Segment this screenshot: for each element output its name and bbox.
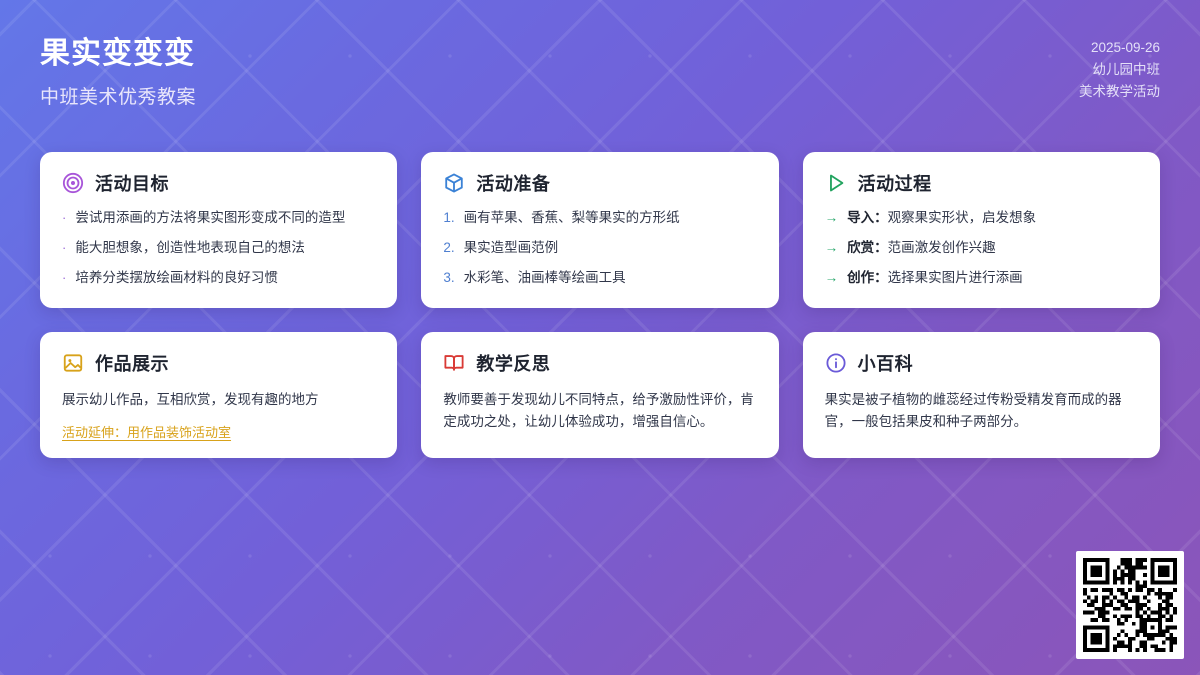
meta-grade: 幼儿园中班 bbox=[1079, 59, 1160, 81]
list-item-text: 尝试用添画的方法将果实图形变成不同的造型 bbox=[75, 209, 345, 227]
card-header: 作品展示 bbox=[62, 350, 375, 376]
arrow-icon: → bbox=[825, 239, 839, 257]
card-title: 作品展示 bbox=[95, 350, 169, 376]
list-item: → 导入：观察果实形状，启发想象 bbox=[825, 209, 1138, 227]
list-item: · 尝试用添画的方法将果实图形变成不同的造型 bbox=[62, 209, 375, 227]
header-meta: 2025-09-26 幼儿园中班 美术教学活动 bbox=[1079, 37, 1160, 103]
slide-header: 果实变变变 中班美术优秀教案 2025-09-26 幼儿园中班 美术教学活动 bbox=[0, 0, 1200, 140]
card-grid: 活动目标 · 尝试用添画的方法将果实图形变成不同的造型 · 能大胆想象，创造性地… bbox=[40, 152, 1160, 458]
target-icon bbox=[62, 172, 84, 194]
meta-category: 美术教学活动 bbox=[1079, 81, 1160, 103]
list-item: 2. 果实造型画范例 bbox=[443, 239, 756, 257]
card-title: 活动目标 bbox=[95, 170, 169, 196]
objectives-list: · 尝试用添画的方法将果实图形变成不同的造型 · 能大胆想象，创造性地表现自己的… bbox=[62, 209, 375, 288]
list-item: 1. 画有苹果、香蕉、梨等果实的方形纸 bbox=[443, 209, 756, 227]
list-item-text: 果实造型画范例 bbox=[464, 239, 559, 257]
card-title: 小百科 bbox=[858, 350, 914, 376]
meta-date: 2025-09-26 bbox=[1079, 37, 1160, 59]
step-text: 范画激发创作兴趣 bbox=[888, 240, 996, 255]
arrow-icon: → bbox=[825, 269, 839, 287]
card-header: 活动目标 bbox=[62, 170, 375, 196]
showcase-text: 展示幼儿作品，互相欣赏，发现有趣的地方 bbox=[62, 389, 375, 411]
page-subtitle: 中班美术优秀教案 bbox=[40, 82, 196, 109]
info-icon bbox=[825, 352, 847, 374]
list-item: 3. 水彩笔、油画棒等绘画工具 bbox=[443, 269, 756, 287]
list-item-text: 水彩笔、油画棒等绘画工具 bbox=[464, 269, 626, 287]
list-marker: 3. bbox=[443, 269, 454, 287]
encyclopedia-text: 果实是被子植物的雌蕊经过传粉受精发育而成的器官，一般包括果皮和种子两部分。 bbox=[825, 389, 1138, 433]
card-header: 教学反思 bbox=[443, 350, 756, 376]
card-objectives[interactable]: 活动目标 · 尝试用添画的方法将果实图形变成不同的造型 · 能大胆想象，创造性地… bbox=[40, 152, 397, 308]
card-reflection[interactable]: 教学反思 教师要善于发现幼儿不同特点，给予激励性评价，肯定成功之处，让幼儿体验成… bbox=[421, 332, 778, 458]
preparation-list: 1. 画有苹果、香蕉、梨等果实的方形纸 2. 果实造型画范例 3. 水彩笔、油画… bbox=[443, 209, 756, 288]
list-item-text: 导入：观察果实形状，启发想象 bbox=[847, 209, 1036, 227]
card-header: 活动准备 bbox=[443, 170, 756, 196]
card-header: 小百科 bbox=[825, 350, 1138, 376]
card-title: 教学反思 bbox=[476, 350, 550, 376]
card-encyclopedia[interactable]: 小百科 果实是被子植物的雌蕊经过传粉受精发育而成的器官，一般包括果皮和种子两部分… bbox=[803, 332, 1160, 458]
bullet-icon: · bbox=[62, 209, 66, 227]
list-item: · 能大胆想象，创造性地表现自己的想法 bbox=[62, 239, 375, 257]
page-title: 果实变变变 bbox=[40, 35, 196, 73]
list-item-text: 画有苹果、香蕉、梨等果实的方形纸 bbox=[464, 209, 680, 227]
list-item-text: 欣赏：范画激发创作兴趣 bbox=[847, 239, 996, 257]
qr-code[interactable] bbox=[1076, 551, 1184, 659]
card-title: 活动准备 bbox=[476, 170, 550, 196]
list-marker: 2. bbox=[443, 239, 454, 257]
reflection-text: 教师要善于发现幼儿不同特点，给予激励性评价，肯定成功之处，让幼儿体验成功，增强自… bbox=[443, 389, 756, 433]
card-process[interactable]: 活动过程 → 导入：观察果实形状，启发想象 → 欣赏：范画激发创作兴趣 → 创作… bbox=[803, 152, 1160, 308]
image-icon bbox=[62, 352, 84, 374]
qr-code-image bbox=[1083, 558, 1177, 652]
slide-root: 果实变变变 中班美术优秀教案 2025-09-26 幼儿园中班 美术教学活动 活… bbox=[0, 0, 1200, 675]
play-icon bbox=[825, 172, 847, 194]
step-text: 观察果实形状，启发想象 bbox=[888, 210, 1037, 225]
list-item: → 创作：选择果实图片进行添画 bbox=[825, 269, 1138, 287]
list-item-text: 创作：选择果实图片进行添画 bbox=[847, 269, 1023, 287]
step-label: 导入： bbox=[847, 210, 888, 225]
bullet-icon: · bbox=[62, 239, 66, 257]
card-showcase[interactable]: 作品展示 展示幼儿作品，互相欣赏，发现有趣的地方 活动延伸：用作品装饰活动室 bbox=[40, 332, 397, 458]
list-item: · 培养分类摆放绘画材料的良好习惯 bbox=[62, 269, 375, 287]
card-preparation[interactable]: 活动准备 1. 画有苹果、香蕉、梨等果实的方形纸 2. 果实造型画范例 3. 水… bbox=[421, 152, 778, 308]
process-list: → 导入：观察果实形状，启发想象 → 欣赏：范画激发创作兴趣 → 创作：选择果实… bbox=[825, 209, 1138, 288]
card-header: 活动过程 bbox=[825, 170, 1138, 196]
bullet-icon: · bbox=[62, 269, 66, 287]
step-text: 选择果实图片进行添画 bbox=[888, 270, 1023, 285]
cube-icon bbox=[443, 172, 465, 194]
list-marker: 1. bbox=[443, 209, 454, 227]
book-icon bbox=[443, 352, 465, 374]
step-label: 创作： bbox=[847, 270, 888, 285]
activity-extension-link[interactable]: 活动延伸：用作品装饰活动室 bbox=[62, 422, 231, 441]
step-label: 欣赏： bbox=[847, 240, 888, 255]
list-item: → 欣赏：范画激发创作兴趣 bbox=[825, 239, 1138, 257]
list-item-text: 培养分类摆放绘画材料的良好习惯 bbox=[75, 269, 278, 287]
list-item-text: 能大胆想象，创造性地表现自己的想法 bbox=[75, 239, 305, 257]
card-title: 活动过程 bbox=[858, 170, 932, 196]
title-block: 果实变变变 中班美术优秀教案 bbox=[40, 31, 196, 110]
arrow-icon: → bbox=[825, 209, 839, 227]
